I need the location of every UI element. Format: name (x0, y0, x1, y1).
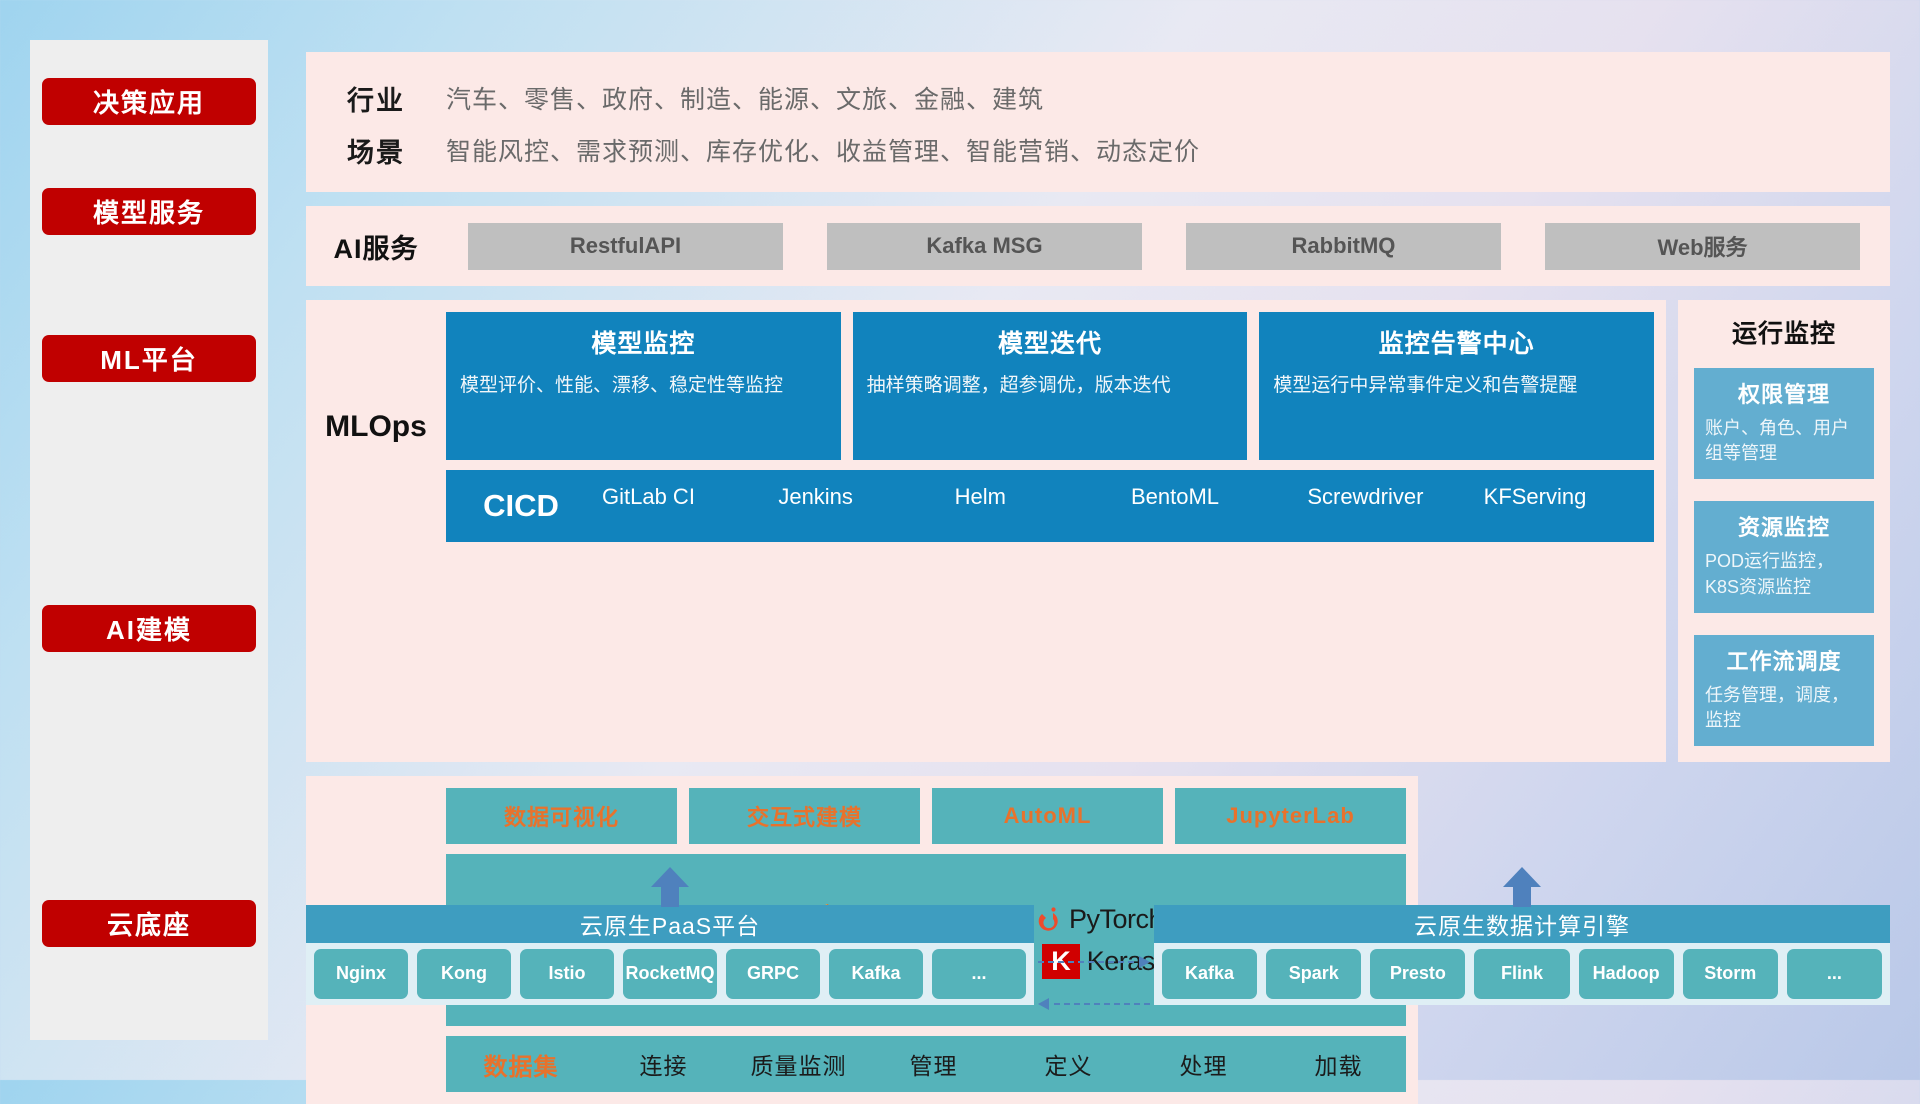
scenario-label: 场景 (306, 131, 446, 170)
stage-label: 决策应用 (93, 83, 205, 120)
card-desc: POD运行监控，K8S资源监控 (1705, 549, 1863, 599)
dashed-arrow-right-icon (1038, 961, 1150, 963)
mlops-card-list: 模型监控 模型评价、性能、漂移、稳定性等监控 模型迭代 抽样策略调整，超参调优，… (446, 312, 1654, 460)
mlops-card-alert-center[interactable]: 监控告警中心 模型运行中异常事件定义和告警提醒 (1259, 312, 1654, 460)
lab-tool-jupyterlab[interactable]: JupyterLab (1175, 788, 1406, 844)
engine-title: 云原生数据计算引擎 (1154, 905, 1890, 943)
mlops-card-model-monitoring[interactable]: 模型监控 模型评价、性能、漂移、稳定性等监控 (446, 312, 841, 460)
mlops-card-model-iteration[interactable]: 模型迭代 抽样策略调整，超参调优，版本迭代 (853, 312, 1248, 460)
card-title: 模型监控 (460, 324, 827, 360)
paas-chip-grpc[interactable]: GRPC (726, 949, 820, 999)
cicd-item-kfserving[interactable]: KFServing (1478, 484, 1654, 509)
card-desc: 账户、角色、用户组等管理 (1705, 416, 1863, 466)
stage-pill-model-service[interactable]: 模型服务 (42, 188, 256, 235)
industry-label: 行业 (306, 79, 446, 118)
engine-chip-more[interactable]: ... (1787, 949, 1882, 999)
paas-chip-nginx[interactable]: Nginx (314, 949, 408, 999)
dataset-item-load[interactable]: 加载 (1271, 1047, 1406, 1081)
cicd-item-screwdriver[interactable]: Screwdriver (1301, 484, 1477, 509)
cicd-label: CICD (446, 488, 596, 524)
paas-chip-list: Nginx Kong Istio RocketMQ GRPC Kafka ... (306, 943, 1034, 1005)
stage-rail: 决策应用 模型服务 ML平台 AI建模 云底座 (30, 40, 268, 1040)
dataset-item-process[interactable]: 处理 (1136, 1047, 1271, 1081)
paas-chip-more[interactable]: ... (932, 949, 1026, 999)
cloud-base-row: 云原生PaaS平台 Nginx Kong Istio RocketMQ GRPC… (306, 905, 1890, 1035)
lab-tool-automl[interactable]: AutoML (932, 788, 1163, 844)
cicd-item-bentoml[interactable]: BentoML (1125, 484, 1301, 509)
cicd-item-jenkins[interactable]: Jenkins (772, 484, 948, 509)
dataset-item-quality[interactable]: 质量监测 (731, 1047, 866, 1081)
stage-label: AI建模 (106, 610, 192, 647)
ml-platform-row: MLOps 模型监控 模型评价、性能、漂移、稳定性等监控 模型迭代 抽样策略调整… (306, 300, 1890, 762)
stage-pill-ai-modeling[interactable]: AI建模 (42, 605, 256, 652)
ai-service-label: AI服务 (306, 227, 446, 266)
paas-chip-istio[interactable]: Istio (520, 949, 614, 999)
engine-chip-hadoop[interactable]: Hadoop (1579, 949, 1674, 999)
monitor-card-workflow[interactable]: 工作流调度 任务管理，调度，监控 (1694, 635, 1874, 746)
dataset-item-define[interactable]: 定义 (1001, 1047, 1136, 1081)
stage-pill-cloud-base[interactable]: 云底座 (42, 900, 256, 947)
paas-chip-kong[interactable]: Kong (417, 949, 511, 999)
card-desc: 模型评价、性能、漂移、稳定性等监控 (460, 372, 827, 400)
ai-service-chip-rabbitmq[interactable]: RabbitMQ (1186, 223, 1501, 270)
ml-lab-tool-list: 数据可视化 交互式建模 AutoML JupyterLab (446, 788, 1406, 844)
engine-chip-presto[interactable]: Presto (1370, 949, 1465, 999)
scenario-values: 智能风控、需求预测、库存优化、收益管理、智能营销、动态定价 (446, 132, 1200, 168)
card-title: 工作流调度 (1705, 644, 1863, 676)
cicd-bar: CICD GitLab CI Jenkins Helm BentoML Scre… (446, 470, 1654, 542)
run-monitor-panel: 运行监控 权限管理 账户、角色、用户组等管理 资源监控 POD运行监控，K8S资… (1678, 300, 1890, 762)
run-monitor-title: 运行监控 (1694, 314, 1874, 350)
card-desc: 抽样策略调整，超参调优，版本迭代 (867, 372, 1234, 400)
card-title: 资源监控 (1705, 510, 1863, 542)
stage-label: 模型服务 (93, 193, 205, 230)
ai-service-chip-restfulapi[interactable]: RestfulAPI (468, 223, 783, 270)
ai-service-chip-web[interactable]: Web服务 (1545, 223, 1860, 270)
dataset-row: 数据集 连接 质量监测 管理 定义 处理 加载 (446, 1036, 1406, 1092)
dataset-item-manage[interactable]: 管理 (866, 1047, 1001, 1081)
paas-chip-kafka[interactable]: Kafka (829, 949, 923, 999)
engine-chip-kafka[interactable]: Kafka (1162, 949, 1257, 999)
ai-service-band: AI服务 RestfulAPI Kafka MSG RabbitMQ Web服务 (306, 206, 1890, 286)
monitor-card-permission[interactable]: 权限管理 账户、角色、用户组等管理 (1694, 368, 1874, 479)
stage-pill-decision[interactable]: 决策应用 (42, 78, 256, 125)
card-title: 权限管理 (1705, 377, 1863, 409)
cicd-item-gitlab-ci[interactable]: GitLab CI (596, 484, 772, 509)
card-title: 监控告警中心 (1273, 324, 1640, 360)
dashed-arrow-left-icon (1038, 1003, 1150, 1005)
lab-tool-interactive-modeling[interactable]: 交互式建模 (689, 788, 920, 844)
industry-row: 行业 汽车、零售、政府、制造、能源、文旅、金融、建筑 (306, 72, 1890, 124)
engine-chip-storm[interactable]: Storm (1683, 949, 1778, 999)
paas-chip-rocketmq[interactable]: RocketMQ (623, 949, 717, 999)
dataset-label: 数据集 (446, 1047, 596, 1082)
engine-chip-flink[interactable]: Flink (1474, 949, 1569, 999)
stage-pill-ml-platform[interactable]: ML平台 (42, 335, 256, 382)
paas-title: 云原生PaaS平台 (306, 905, 1034, 943)
card-desc: 任务管理，调度，监控 (1705, 683, 1863, 733)
monitor-card-resource[interactable]: 资源监控 POD运行监控，K8S资源监控 (1694, 501, 1874, 612)
card-title: 模型迭代 (867, 324, 1234, 360)
stage-label: ML平台 (100, 340, 198, 377)
industry-values: 汽车、零售、政府、制造、能源、文旅、金融、建筑 (446, 80, 1044, 116)
cloud-native-paas-group: 云原生PaaS平台 Nginx Kong Istio RocketMQ GRPC… (306, 905, 1034, 1005)
cloud-native-data-engine-group: 云原生数据计算引擎 Kafka Spark Presto Flink Hadoo… (1154, 905, 1890, 1005)
engine-chip-spark[interactable]: Spark (1266, 949, 1361, 999)
scenario-row: 场景 智能风控、需求预测、库存优化、收益管理、智能营销、动态定价 (306, 124, 1890, 176)
card-desc: 模型运行中异常事件定义和告警提醒 (1273, 372, 1640, 400)
mlops-label: MLOps (306, 312, 446, 542)
ai-service-chip-list: RestfulAPI Kafka MSG RabbitMQ Web服务 (446, 223, 1890, 270)
ai-service-chip-kafka-msg[interactable]: Kafka MSG (827, 223, 1142, 270)
engine-chip-list: Kafka Spark Presto Flink Hadoop Storm ..… (1154, 943, 1890, 1005)
stage-label: 云底座 (107, 905, 191, 942)
dataset-item-connect[interactable]: 连接 (596, 1047, 731, 1081)
decision-application-band: 行业 汽车、零售、政府、制造、能源、文旅、金融、建筑 场景 智能风控、需求预测、… (306, 52, 1890, 192)
cicd-item-helm[interactable]: Helm (949, 484, 1125, 509)
lab-tool-data-visualization[interactable]: 数据可视化 (446, 788, 677, 844)
mlops-band: MLOps 模型监控 模型评价、性能、漂移、稳定性等监控 模型迭代 抽样策略调整… (306, 300, 1666, 762)
